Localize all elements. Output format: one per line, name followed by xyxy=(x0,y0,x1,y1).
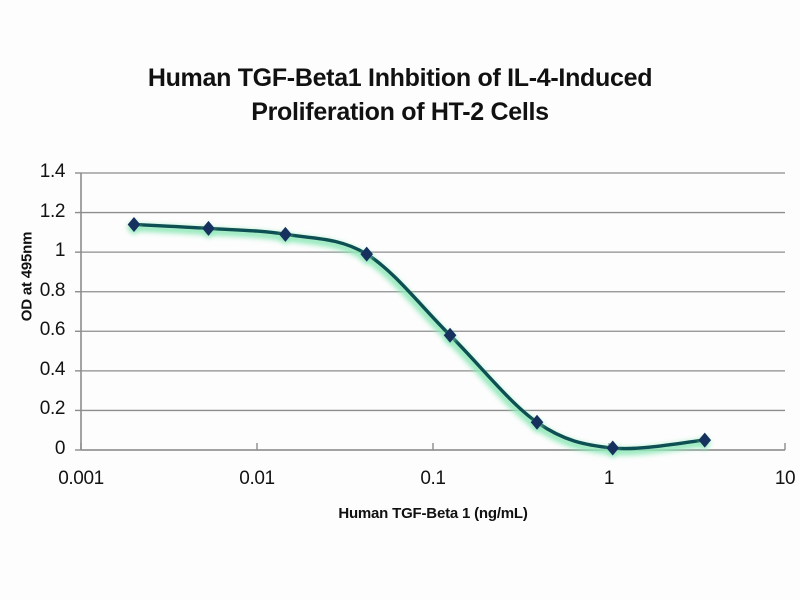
y-tick-label-6: 1.2 xyxy=(11,201,65,223)
gridlines xyxy=(81,173,785,450)
y-tick-label-2: 0.4 xyxy=(11,359,65,381)
chart-figure: Human TGF-Beta1 Inhbition of IL-4-Induce… xyxy=(0,0,800,600)
x-tick-label-2: 0.1 xyxy=(420,468,445,490)
y-tick-label-0: 0 xyxy=(11,438,65,460)
y-tick-marks xyxy=(75,173,81,450)
x-tick-label-0: 0.001 xyxy=(58,468,104,490)
x-tick-label-3: 1 xyxy=(604,468,614,490)
y-tick-label-5: 1 xyxy=(11,240,65,262)
y-tick-label-7: 1.4 xyxy=(11,161,65,183)
plot-area xyxy=(0,0,800,600)
series-markers xyxy=(128,217,711,459)
series-glow-path xyxy=(132,227,703,451)
x-tick-label-4: 10 xyxy=(775,468,795,490)
y-tick-label-1: 0.2 xyxy=(11,398,65,420)
y-tick-label-3: 0.6 xyxy=(11,319,65,341)
series-line-path xyxy=(134,224,705,448)
y-tick-label-4: 0.8 xyxy=(11,280,65,302)
x-tick-label-1: 0.01 xyxy=(239,468,274,490)
